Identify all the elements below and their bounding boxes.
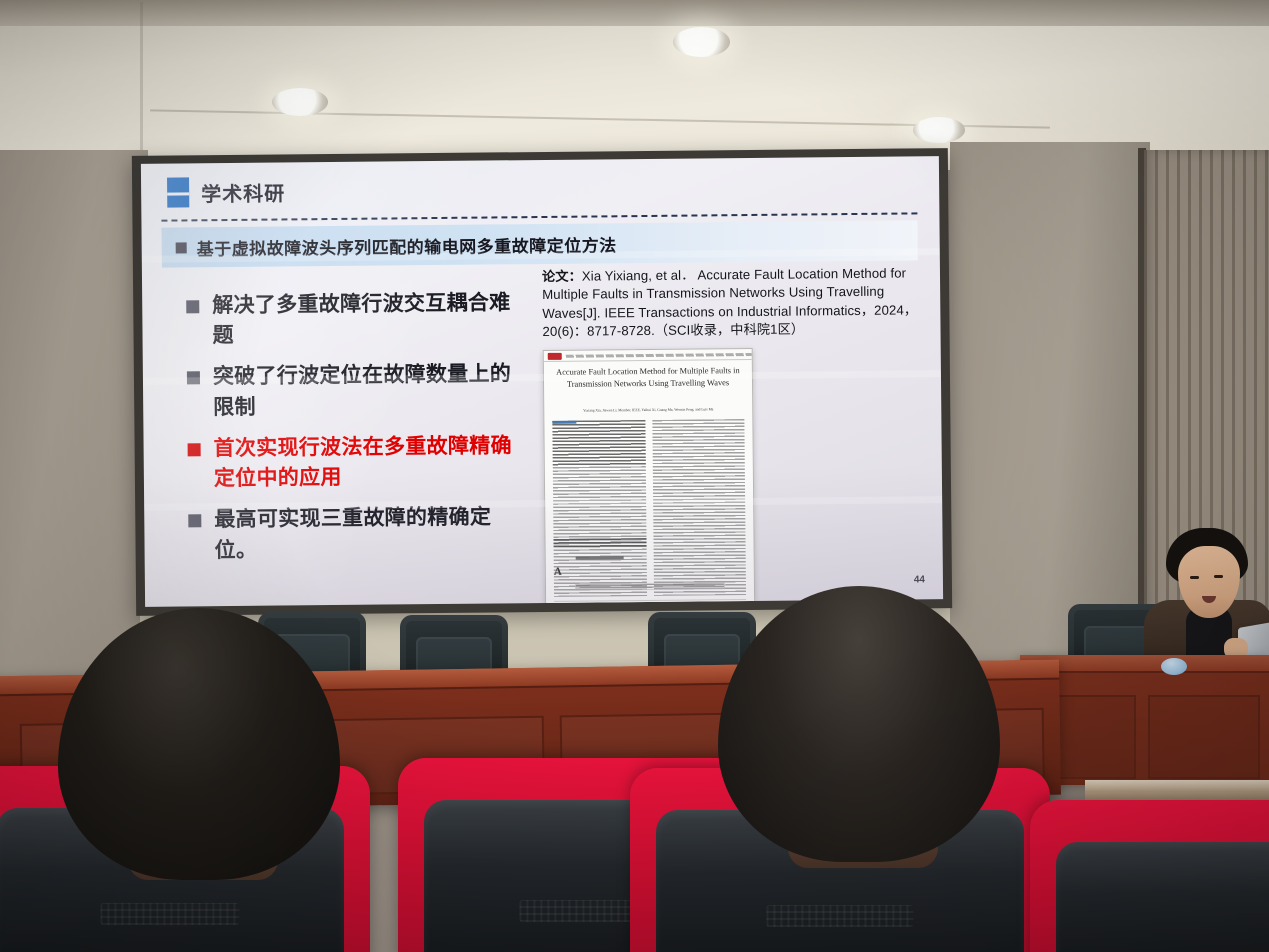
bullet-square-icon bbox=[188, 515, 201, 528]
bullet-text: 突破了行波定位在故障数量上的限制 bbox=[213, 360, 518, 423]
audience-seat-back bbox=[1056, 842, 1269, 952]
bullet-square-icon bbox=[188, 443, 201, 456]
presenter-eye bbox=[1190, 576, 1199, 579]
list-item: 突破了行波定位在故障数量上的限制 bbox=[187, 360, 518, 424]
list-item: 解决了多重故障行波交互耦合难题 bbox=[186, 288, 517, 352]
paper-column-right bbox=[652, 419, 746, 596]
paper-title: Accurate Fault Location Method for Multi… bbox=[554, 365, 742, 391]
bullet-text: 最高可实现三重故障的精确定位。 bbox=[214, 503, 519, 566]
bullet-text: 首次实现行波法在多重故障精确定位中的应用 bbox=[213, 431, 518, 494]
paper-keywords bbox=[554, 538, 647, 548]
paper-notice-box bbox=[575, 582, 725, 590]
kicker-marker-icon bbox=[167, 177, 189, 207]
paper-section-heading bbox=[576, 556, 624, 559]
paper-running-head bbox=[544, 349, 752, 362]
slide-bullet-list: 解决了多重故障行波交互耦合难题 突破了行波定位在故障数量上的限制 首次实现行波法… bbox=[186, 288, 519, 577]
paper-columns: A bbox=[552, 419, 746, 597]
podium-panel bbox=[1148, 695, 1260, 779]
bullet-square-icon bbox=[186, 300, 199, 313]
wall-left bbox=[0, 150, 148, 710]
presenter-eye bbox=[1214, 575, 1223, 578]
bullet-square-icon bbox=[187, 372, 200, 385]
paper-footer bbox=[554, 599, 746, 607]
seat-vent bbox=[766, 905, 913, 927]
citation-text: Xia Yixiang, et al． Accurate Fault Locat… bbox=[542, 266, 917, 340]
ceiling-bevel bbox=[0, 0, 1269, 26]
ceiling-downlight-icon bbox=[673, 27, 730, 57]
ieee-logo-icon bbox=[548, 352, 562, 359]
bullet-text: 解决了多重故障行波交互耦合难题 bbox=[212, 288, 517, 351]
slide-kicker-label: 学术科研 bbox=[201, 177, 285, 207]
projection-screen: 学术科研 基于虚拟故障波头序列匹配的输电网多重故障定位方法 解决了多重故障行波交… bbox=[141, 156, 943, 607]
ceiling-downlight-icon bbox=[272, 88, 328, 116]
paper-dropcap: A bbox=[554, 567, 562, 578]
microphone-base bbox=[1161, 658, 1187, 675]
slide-page-number: 44 bbox=[914, 574, 925, 585]
paper-column-left: A bbox=[552, 420, 646, 597]
slide-kicker: 学术科研 bbox=[167, 176, 285, 207]
ceiling-seam bbox=[140, 2, 143, 162]
title-bullet-icon bbox=[176, 242, 187, 253]
paper-runhead-rule bbox=[566, 352, 752, 357]
list-item-highlighted: 首次实现行波法在多重故障精确定位中的应用 bbox=[187, 431, 518, 495]
list-item: 最高可实现三重故障的精确定位。 bbox=[188, 503, 519, 567]
slide: 学术科研 基于虚拟故障波头序列匹配的输电网多重故障定位方法 解决了多重故障行波交… bbox=[141, 156, 943, 607]
paper-body-text bbox=[652, 419, 746, 596]
seat-vent bbox=[100, 903, 239, 925]
ceiling-downlight-icon bbox=[913, 117, 965, 143]
front-desk-edge bbox=[1085, 780, 1269, 792]
citation-block: 论文：Xia Yixiang, et al． Accurate Fault Lo… bbox=[542, 264, 933, 342]
header-divider bbox=[161, 212, 917, 221]
paper-footer-rule bbox=[554, 602, 746, 606]
seat-vent bbox=[519, 900, 646, 922]
projection-screen-frame: 学术科研 基于虚拟故障波头序列匹配的输电网多重故障定位方法 解决了多重故障行波交… bbox=[132, 148, 952, 616]
paper-authors: Yixiang Xia, Jiawen Li, Member, IEEE, Ya… bbox=[554, 407, 742, 413]
citation-label: 论文： bbox=[542, 269, 582, 284]
audience-seat bbox=[1030, 800, 1269, 952]
paper-thumbnail: Accurate Fault Location Method for Multi… bbox=[543, 348, 756, 607]
paper-body-text bbox=[552, 420, 646, 597]
slide-title: 基于虚拟故障波头序列匹配的输电网多重故障定位方法 bbox=[197, 231, 617, 260]
slide-title-band: 基于虚拟故障波头序列匹配的输电网多重故障定位方法 bbox=[162, 220, 918, 267]
presentation-room-photo: 学术科研 基于虚拟故障波头序列匹配的输电网多重故障定位方法 解决了多重故障行波交… bbox=[0, 0, 1269, 952]
